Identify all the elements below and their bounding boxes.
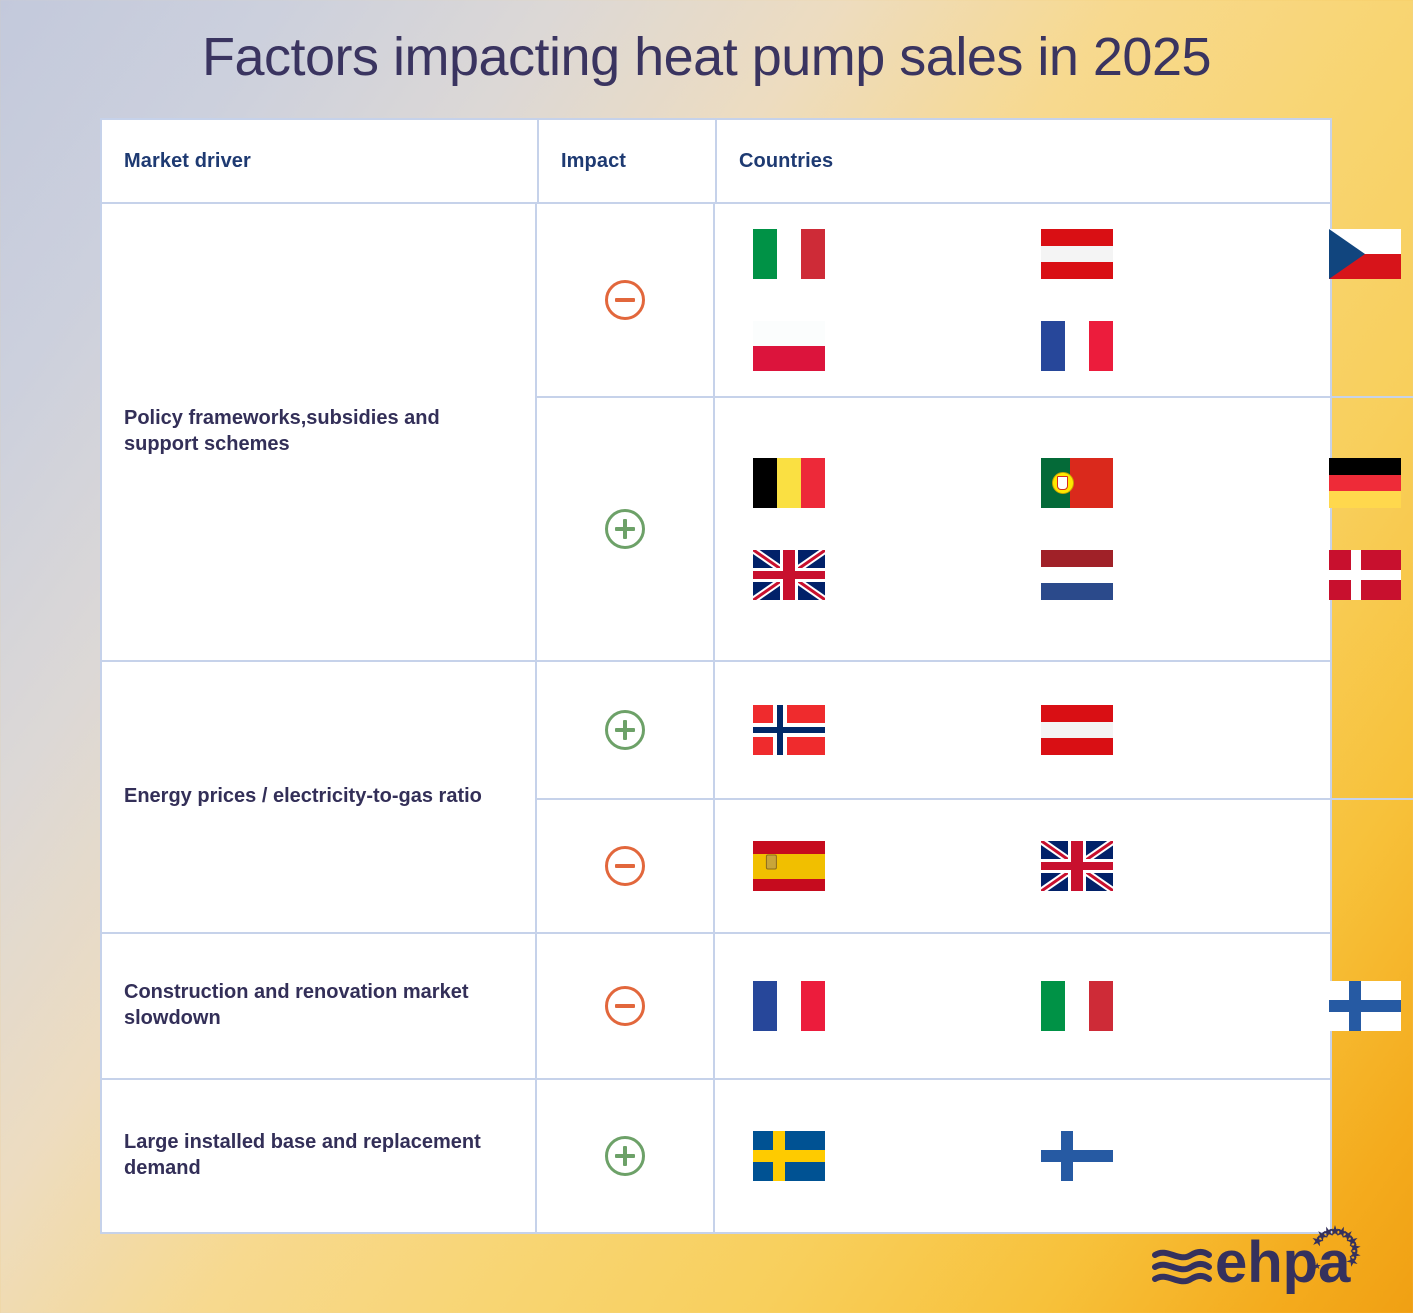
impact-cell-negative — [537, 204, 713, 396]
countries-column — [715, 1080, 1413, 1232]
flag-slot — [1329, 229, 1413, 279]
countries-cell-positive — [715, 396, 1413, 660]
flag-portugal — [1041, 458, 1113, 508]
flag-austria — [1041, 229, 1113, 279]
table-header-row: Market driver Impact Countries — [102, 120, 1330, 204]
flag-line — [715, 437, 1413, 529]
flag-slot — [753, 981, 1041, 1031]
flag-slot — [1041, 705, 1329, 755]
flag-france — [753, 981, 825, 1031]
countries-cell-positive — [715, 1080, 1413, 1232]
driver-cell: Policy frameworks,subsidies and support … — [102, 204, 537, 660]
plus-circle-icon — [605, 509, 645, 549]
flag-slot — [753, 1131, 1041, 1181]
flag-slot — [753, 229, 1041, 279]
impact-cell-positive — [537, 396, 713, 660]
table-row: Energy prices / electricity-to-gas ratio — [102, 662, 1330, 934]
flag-italy — [1041, 981, 1113, 1031]
flag-slot — [1329, 458, 1413, 508]
flag-slot — [1041, 550, 1329, 600]
flag-spain — [753, 841, 825, 891]
flag-norway — [753, 705, 825, 755]
plus-circle-icon — [605, 710, 645, 750]
driver-label: Policy frameworks,subsidies and support … — [124, 406, 513, 457]
flag-slot — [1329, 841, 1413, 891]
header-cell-impact: Impact — [537, 120, 715, 204]
flag-italy — [753, 229, 825, 279]
flag-slot — [1041, 841, 1329, 891]
flag-line — [715, 684, 1413, 776]
flag-line — [715, 208, 1413, 300]
flag-france — [1041, 321, 1113, 371]
ehpa-logo: ehpa — [1151, 1219, 1381, 1295]
flag-finland — [1041, 1131, 1113, 1181]
flag-line — [715, 820, 1413, 912]
flag-netherlands — [1041, 550, 1113, 600]
flag-slot — [753, 458, 1041, 508]
impact-column — [537, 1080, 715, 1232]
flag-slot — [1041, 458, 1329, 508]
wave-lines-icon — [1155, 1252, 1209, 1281]
flag-austria — [1041, 705, 1113, 755]
impact-column — [537, 934, 715, 1078]
countries-cell-negative — [715, 204, 1413, 396]
flag-line — [715, 300, 1413, 392]
flag-czech-republic — [1329, 229, 1401, 279]
flag-poland — [753, 321, 825, 371]
flag-slot — [1329, 1131, 1413, 1181]
impact-cell-positive — [537, 662, 713, 798]
driver-cell: Large installed base and replacement dem… — [102, 1080, 537, 1232]
flag-finland — [1329, 981, 1401, 1031]
ehpa-wordmark: ehpa — [1215, 1230, 1351, 1295]
minus-circle-icon — [605, 986, 645, 1026]
header-cell-market-driver: Market driver — [102, 120, 537, 204]
table-row: Construction and renovation market slowd… — [102, 934, 1330, 1080]
header-cell-countries: Countries — [715, 120, 1330, 204]
minus-circle-icon — [605, 846, 645, 886]
flag-slot — [1329, 705, 1413, 755]
flag-denmark — [1329, 550, 1401, 600]
flag-line — [715, 1110, 1413, 1202]
impact-cell-negative — [537, 934, 713, 1078]
flag-belgium — [753, 458, 825, 508]
flag-slot — [753, 841, 1041, 891]
page-title: Factors impacting heat pump sales in 202… — [0, 0, 1413, 87]
impact-cell-positive — [537, 1080, 713, 1232]
countries-cell-negative — [715, 934, 1413, 1078]
impact-column — [537, 204, 715, 660]
driver-label: Energy prices / electricity-to-gas ratio — [124, 784, 482, 810]
flag-slot — [1329, 321, 1413, 371]
header-label-market-driver: Market driver — [102, 150, 251, 173]
flag-slot — [753, 550, 1041, 600]
flag-germany — [1329, 458, 1401, 508]
flag-line — [715, 960, 1413, 1052]
flag-line — [715, 529, 1413, 621]
flag-slot — [1041, 981, 1329, 1031]
countries-cell-negative — [715, 798, 1413, 932]
flag-slot — [753, 321, 1041, 371]
flag-united-kingdom — [753, 550, 825, 600]
table-row: Large installed base and replacement dem… — [102, 1080, 1330, 1232]
header-label-impact: Impact — [539, 150, 626, 173]
header-label-countries: Countries — [717, 150, 833, 173]
countries-column — [715, 934, 1413, 1078]
factors-table: Market driver Impact Countries Policy fr… — [100, 118, 1332, 1234]
flag-slot — [1041, 1131, 1329, 1181]
flag-sweden — [753, 1131, 825, 1181]
driver-label: Construction and renovation market slowd… — [124, 980, 513, 1031]
flag-slot — [753, 705, 1041, 755]
table-row: Policy frameworks,subsidies and support … — [102, 204, 1330, 662]
flag-slot — [1041, 229, 1329, 279]
driver-cell: Construction and renovation market slowd… — [102, 934, 537, 1078]
driver-label: Large installed base and replacement dem… — [124, 1130, 513, 1181]
flag-united-kingdom — [1041, 841, 1113, 891]
plus-circle-icon — [605, 1136, 645, 1176]
impact-cell-negative — [537, 798, 713, 932]
countries-column — [715, 662, 1413, 932]
countries-column — [715, 204, 1413, 660]
minus-circle-icon — [605, 280, 645, 320]
countries-cell-positive — [715, 662, 1413, 798]
flag-slot — [1041, 321, 1329, 371]
driver-cell: Energy prices / electricity-to-gas ratio — [102, 662, 537, 932]
flag-slot — [1329, 550, 1413, 600]
flag-slot — [1329, 981, 1413, 1031]
impact-column — [537, 662, 715, 932]
